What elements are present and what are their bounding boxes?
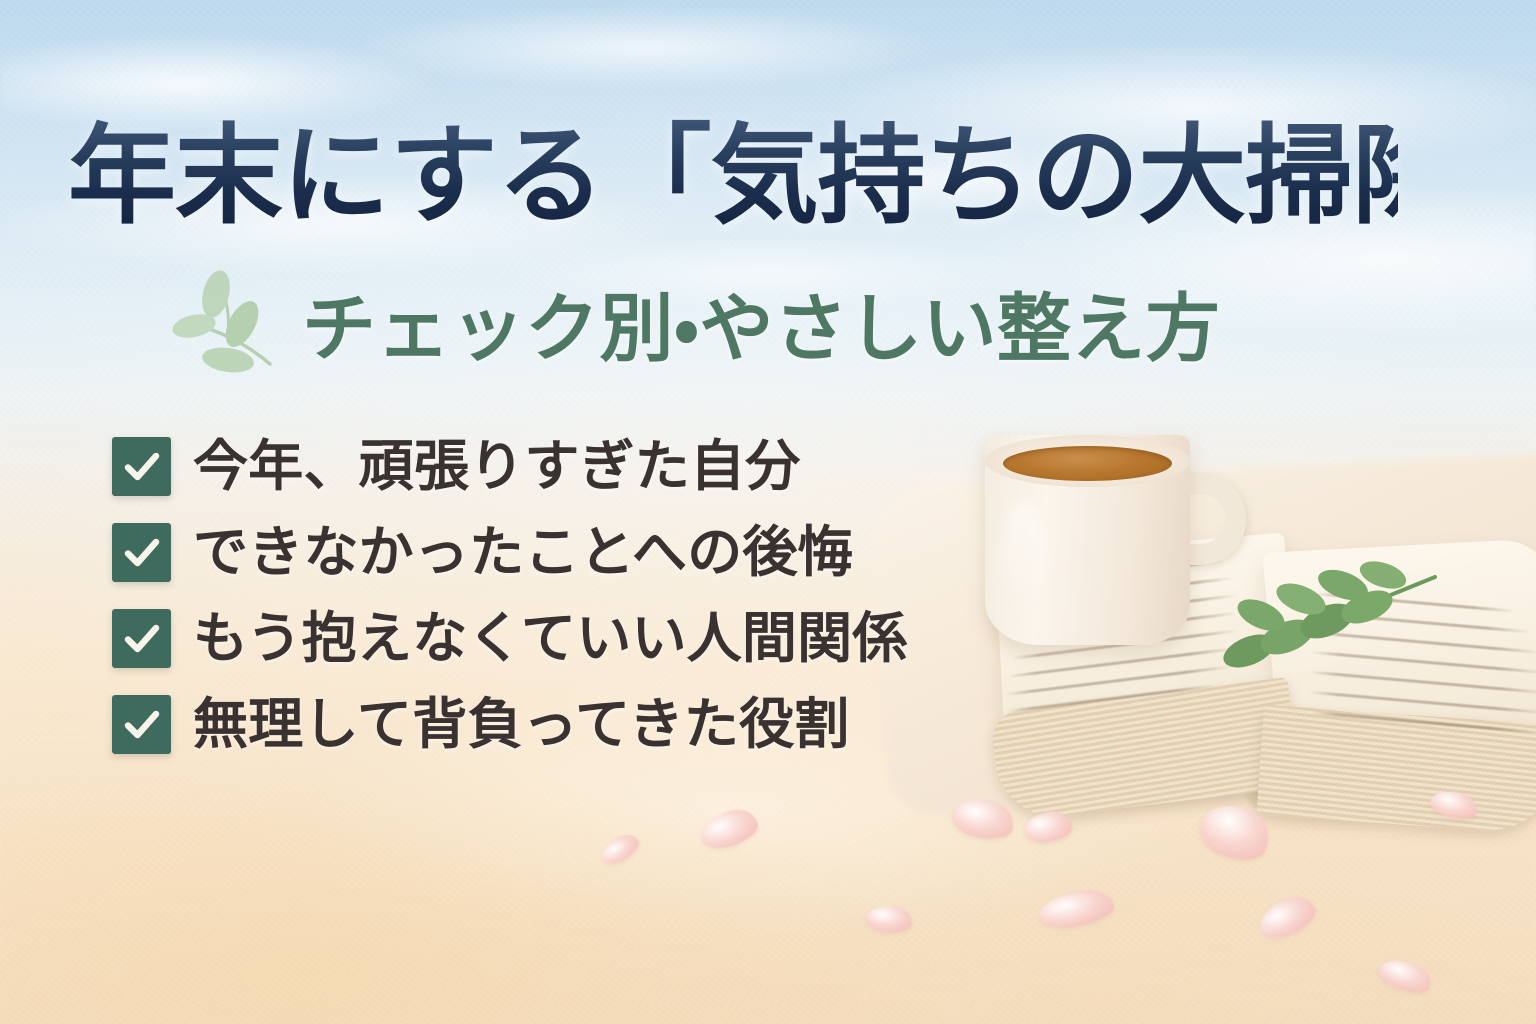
poster-content: 年末にする「気持ちの大掃除」 チェック別・やさしい整え方 [0,0,1536,1024]
checklist-item-label: 無理して背負ってきた役割 [193,697,850,752]
checklist: 今年、頑張りすぎた自分 できなかったことへの後悔 もう抱えなくていい人間関係 [112,437,908,754]
leaf-sprig-decoration-icon [170,268,288,376]
checklist-item-3[interactable]: もう抱えなくていい人間関係 [112,609,908,668]
checkbox-checked-icon[interactable] [112,437,171,496]
page-title: 年末にする「気持ちの大掃除」 [68,118,1398,239]
checkbox-checked-icon[interactable] [112,523,171,582]
checklist-item-label: できなかったことへの後悔 [193,525,853,580]
checklist-item-1[interactable]: 今年、頑張りすぎた自分 [112,437,908,496]
poster-canvas: 年末にする「気持ちの大掃除」 チェック別・やさしい整え方 [0,0,1536,1024]
checklist-item-label: 今年、頑張りすぎた自分 [193,439,800,494]
checklist-item-2[interactable]: できなかったことへの後悔 [112,523,908,582]
page-subtitle: チェック別・やさしい整え方 [302,269,1220,376]
checkbox-checked-icon[interactable] [112,695,171,754]
checklist-item-4[interactable]: 無理して背負ってきた役割 [112,695,908,754]
checkbox-checked-icon[interactable] [112,609,171,668]
checklist-item-label: もう抱えなくていい人間関係 [193,611,908,666]
subtitle-row: チェック別・やさしい整え方 [170,268,1220,376]
